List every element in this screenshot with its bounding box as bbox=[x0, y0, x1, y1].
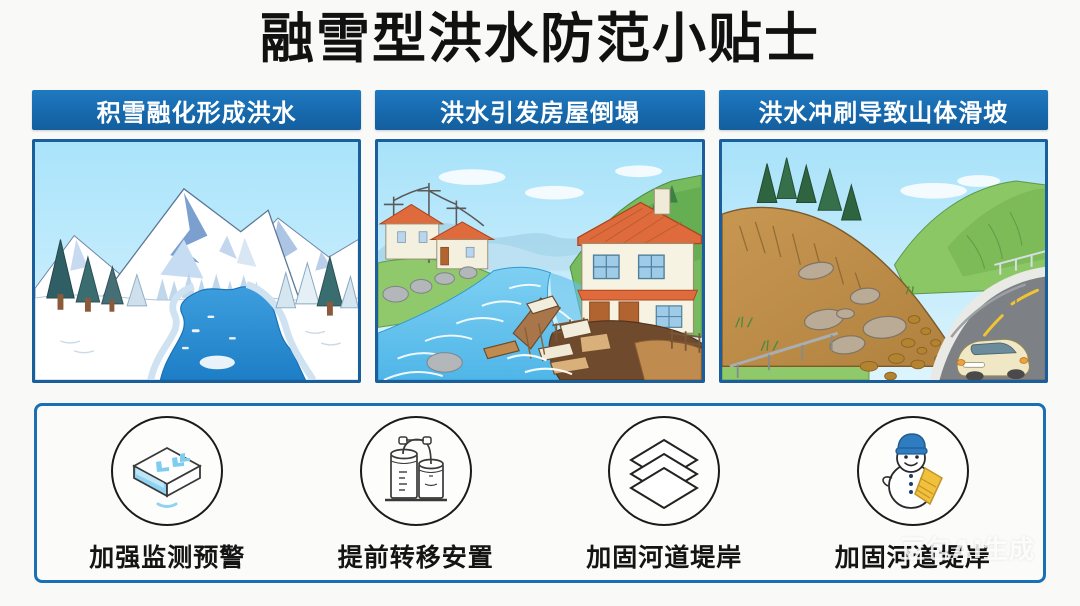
tip-label-reinforce-bank-a: 加固河道堤岸 bbox=[586, 538, 742, 574]
tip-reinforce-bank-a[interactable]: 加固河道堤岸 bbox=[540, 416, 789, 574]
page-title: 融雪型洪水防范小贴士 bbox=[0, 8, 1080, 70]
house-collapse-illustration bbox=[375, 139, 704, 383]
panel-house-collapse: 洪水引发房屋倒塌 bbox=[375, 90, 704, 386]
panel-header-landslide: 洪水冲刷导致山体滑坡 bbox=[719, 90, 1048, 130]
snowman-icon bbox=[857, 416, 969, 526]
panel-landslide: 洪水冲刷导致山体滑坡 bbox=[719, 90, 1048, 386]
stacked-layers-icon bbox=[608, 416, 720, 526]
infographic-page: 融雪型洪水防范小贴士 积雪融化形成洪水 bbox=[0, 0, 1080, 606]
tip-reinforce-bank-b[interactable]: 加固河道堤岸 bbox=[789, 416, 1038, 574]
tip-relocation[interactable]: 提前转移安置 bbox=[292, 416, 541, 574]
panel-header-house-collapse: 洪水引发房屋倒塌 bbox=[375, 90, 704, 130]
snowy-mountain-illustration bbox=[32, 139, 361, 383]
water-tanks-icon bbox=[360, 416, 472, 526]
landslide-illustration bbox=[719, 139, 1048, 383]
tip-monitoring[interactable]: 加强监测预警 bbox=[43, 416, 292, 574]
tip-label-relocation: 提前转移安置 bbox=[338, 538, 494, 574]
monitoring-slab-icon bbox=[111, 416, 223, 526]
panel-header-snowmelt: 积雪融化形成洪水 bbox=[32, 90, 361, 130]
tip-label-monitoring: 加强监测预警 bbox=[89, 538, 245, 574]
tip-label-reinforce-bank-b: 加固河道堤岸 bbox=[835, 538, 991, 574]
panel-snowmelt: 积雪融化形成洪水 bbox=[32, 90, 361, 386]
tips-panel: 加强监测预警 bbox=[34, 403, 1046, 583]
panels-row: 积雪融化形成洪水 bbox=[32, 90, 1048, 386]
